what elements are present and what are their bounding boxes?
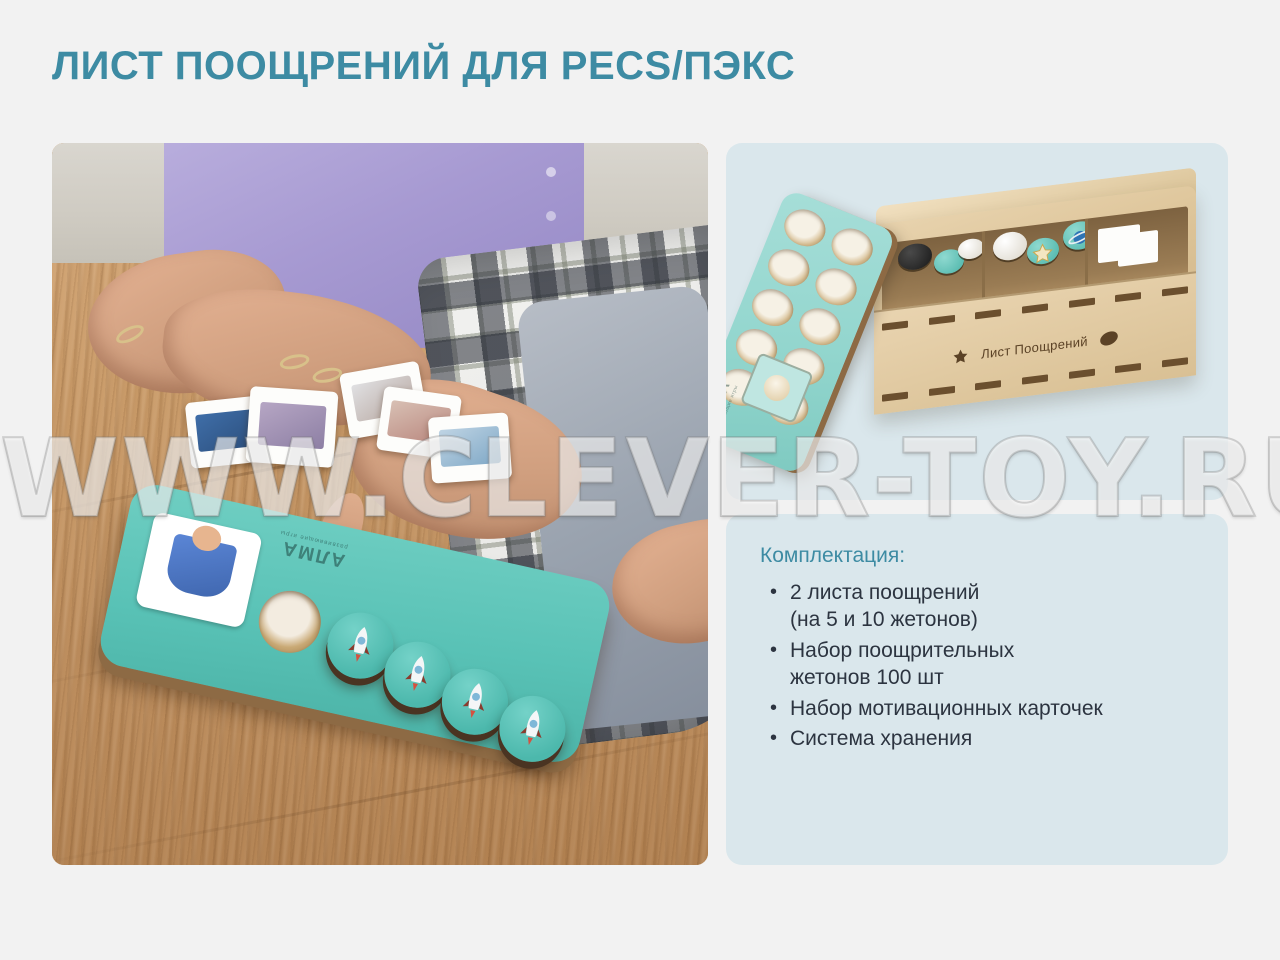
box-joint-slot: [1069, 298, 1095, 308]
box-joint-slot: [1069, 369, 1095, 379]
box-joint-slot: [1115, 363, 1141, 373]
pecs-card: [245, 386, 338, 468]
product-photo-panel: Лист Поощрений: [726, 143, 1228, 500]
list-item: Набор мотивационных карточек: [760, 696, 1194, 723]
reward-slot-empty: [253, 585, 327, 659]
box-joint-slot: [975, 309, 1001, 319]
star-icon: [952, 347, 969, 366]
package-contents-list: 2 листа поощрений(на 5 и 10 жетонов) Наб…: [760, 580, 1194, 753]
motivation-card: [1118, 230, 1158, 267]
token-chip: [958, 237, 984, 260]
reward-slot: [810, 262, 862, 311]
list-item: Набор поощрительныхжетонов 100 шт: [760, 638, 1194, 692]
card-picture: [257, 402, 327, 449]
reward-slot: [779, 203, 831, 252]
token-chip: [898, 242, 932, 272]
ring-icon: [278, 352, 310, 372]
star-icon: [1031, 240, 1054, 266]
ellipse-icon: [1098, 329, 1119, 349]
motivation-card: [135, 511, 263, 629]
box-engraving-text: Лист Поощрений: [981, 334, 1088, 362]
card-picture: [163, 533, 237, 601]
lifestyle-photo: АЛМА развивающие игры: [52, 143, 708, 865]
ring-icon: [113, 321, 146, 347]
storage-box-illustration: Лист Поощрений: [726, 143, 1228, 500]
list-item: Система хранения: [760, 726, 1194, 753]
package-contents-panel: Комплектация: 2 листа поощрений(на 5 и 1…: [726, 514, 1228, 865]
box-joint-slot: [882, 321, 908, 331]
list-item: 2 листа поощрений(на 5 и 10 жетонов): [760, 580, 1194, 634]
token-chip-planet: [1063, 219, 1088, 251]
token-chip: [993, 230, 1027, 262]
box-joint-slot: [1162, 357, 1188, 367]
reward-sheet-10: АЛМА развивающие игры: [726, 188, 897, 475]
rocket-icon: [398, 651, 438, 698]
package-contents-title: Комплектация:: [760, 544, 1194, 568]
page-title: ЛИСТ ПООЩРЕНИЙ ДЛЯ PECS/ПЭКС: [52, 44, 795, 89]
rocket-icon: [513, 705, 553, 752]
reward-slot: [760, 371, 794, 405]
pecs-card: [428, 412, 512, 483]
box-joint-slot: [929, 315, 955, 325]
box-joint-slot: [1162, 286, 1188, 296]
reward-slot: [746, 283, 798, 332]
box-joint-slot: [1022, 303, 1048, 313]
box-body: Лист Поощрений: [874, 185, 1196, 415]
box-joint-slot: [1115, 292, 1141, 302]
box-joint-slot: [929, 386, 955, 396]
reward-slot: [826, 222, 878, 271]
card-picture: [438, 426, 501, 467]
rocket-icon: [340, 622, 380, 669]
box-joint-slot: [882, 392, 908, 402]
reward-slot: [794, 302, 846, 351]
box-joint-slot: [1022, 374, 1048, 384]
board-brand: АЛМА развивающие игры: [275, 529, 349, 571]
box-joint-slot: [975, 380, 1001, 390]
ring-icon: [311, 365, 343, 385]
sheet-brand: АЛМА развивающие игры: [726, 378, 740, 436]
rocket-icon: [455, 678, 495, 725]
token-chip-star: [1027, 236, 1059, 266]
planet-icon: [1067, 223, 1088, 252]
reward-slot: [763, 243, 815, 292]
